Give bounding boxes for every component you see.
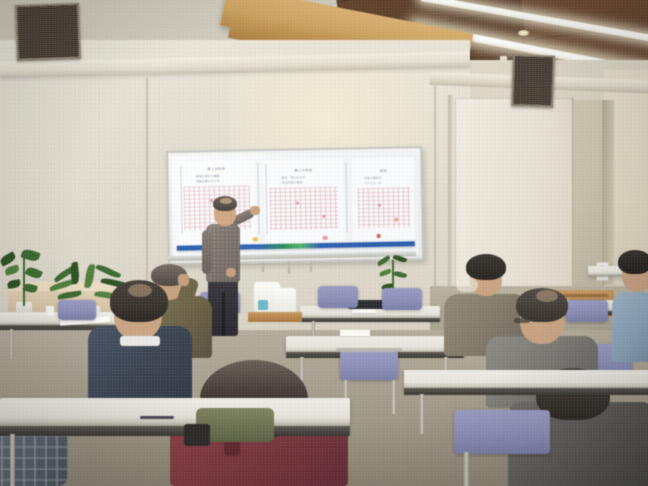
meeting-room-photo: 第１分科会 地域の现状と課題 活動計画のまとめ 第２分科会 安全・安心のまち 防… — [0, 0, 648, 486]
board-hook-3 — [310, 262, 312, 272]
blue-pouch — [258, 300, 268, 310]
chair-back[interactable] — [454, 410, 550, 454]
table-foreground-edge — [0, 426, 350, 436]
glasses-icon — [514, 318, 530, 323]
whiteboard-pane-line-2a: 安全・安心のまち — [281, 175, 305, 179]
wall-seam-3 — [572, 96, 574, 296]
whiteboard-pane-line-2b: 防災計画の検討 — [282, 180, 303, 184]
low-table-ledge — [248, 312, 302, 322]
recessed-downlight-3 — [518, 30, 529, 36]
chair-back[interactable] — [382, 288, 422, 310]
whiteboard-pane-line-3a: 今後の進め方 — [364, 176, 382, 180]
table-leg — [10, 329, 13, 359]
chair-frame — [336, 348, 402, 352]
presenter-hand — [250, 206, 260, 215]
table-mid-center-edge — [300, 318, 440, 322]
table-right-front — [404, 370, 648, 390]
board-hook-1 — [262, 262, 264, 272]
presenter-bald-spot — [220, 198, 232, 204]
ceiling-vent-left-icon — [15, 3, 81, 61]
attendee-collar — [120, 336, 160, 346]
sticky-note-2 — [323, 236, 328, 240]
bag-strap — [184, 424, 210, 446]
whiteboard-pane-line-3b: スケジュール — [364, 181, 382, 185]
motion-blur-hand — [456, 278, 478, 292]
whiteboard-pane-title-3: 総括 — [357, 167, 409, 173]
whiteboard-pane-line-1a: 地域の现状と課題 — [195, 174, 219, 178]
ceiling-vent-right-icon — [511, 54, 555, 107]
handout-papers — [352, 309, 376, 313]
table-foreground — [0, 398, 350, 428]
attendee-blue-shirt — [612, 252, 648, 362]
paper-cup — [46, 306, 54, 316]
pen-on-table — [140, 416, 174, 419]
sticky-note-3 — [377, 234, 381, 238]
table-leg — [420, 394, 424, 434]
chair-back[interactable] — [318, 286, 358, 308]
presenter-hand-lower — [226, 268, 236, 277]
board-hook-2 — [288, 262, 290, 274]
table-leg — [10, 434, 15, 486]
handout-papers — [340, 330, 370, 336]
chair-leg — [464, 452, 469, 486]
chair-leg — [392, 380, 396, 414]
whiteboard-pane-line-1b: 活動計画のまとめ — [196, 179, 220, 183]
table-right-front-edge — [404, 388, 648, 395]
